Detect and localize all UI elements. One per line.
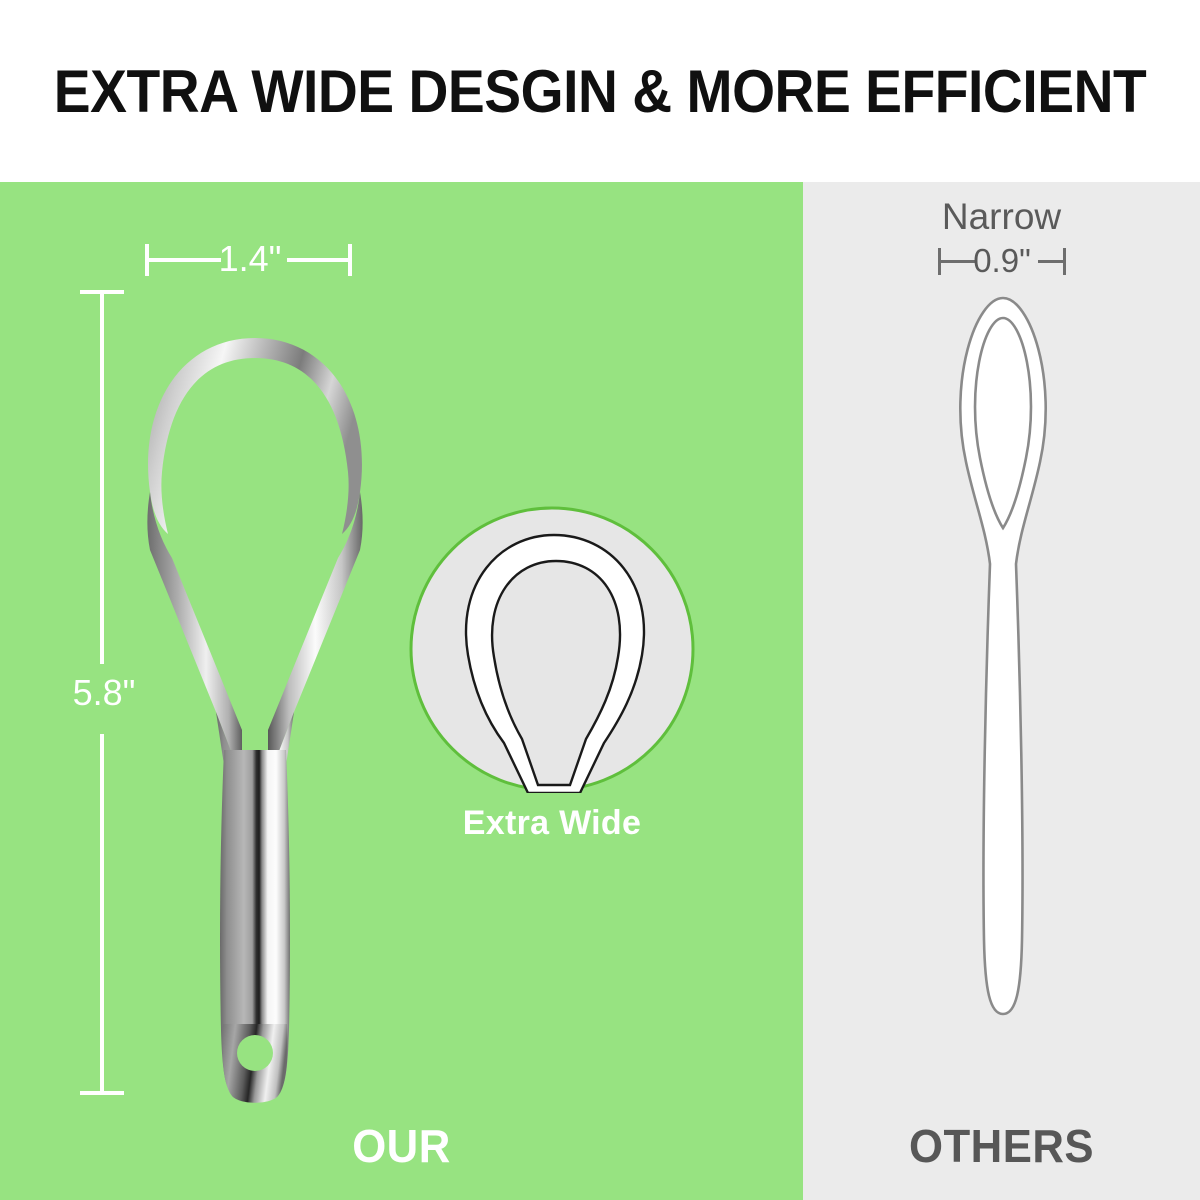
narrow-label: Narrow [803,194,1200,240]
others-width-dim-cap-right-icon [1063,248,1066,275]
callout-caption: Extra Wide [378,801,726,845]
scraper-arm-left [147,492,242,780]
panel-others: Narrow 0.9" OTHERS [803,182,1200,1200]
hang-hole-icon [237,1035,273,1071]
panel-footer-label-others: OTHERS [813,1120,1190,1172]
page-title: EXTRA WIDE DESGIN & MORE EFFICIENT [48,58,1152,126]
height-dim-rule-bottom-icon [100,734,104,1094]
our-scraper-illustration [120,282,390,1112]
product-comparison-image: EXTRA WIDE DESGIN & MORE EFFICIENT 1.4" … [0,0,1200,1200]
width-dim-cap-right-icon [348,244,352,276]
scraper-arm-right [268,492,363,780]
height-dim-rule-top-icon [100,292,104,664]
width-dim-rule-right-icon [287,258,350,262]
width-dimension-label-our: 1.4" [205,232,295,286]
panel-our: 1.4" 5.8" [0,182,803,1200]
others-scraper-illustration [908,272,1098,1072]
callout-circle-icon [408,505,696,793]
others-width-dim-rule-right-icon [1038,260,1066,263]
headline-bar: EXTRA WIDE DESGIN & MORE EFFICIENT [0,0,1200,182]
panel-footer-label-our: OUR [20,1120,783,1172]
extra-wide-callout: Extra Wide [408,505,696,793]
scraper-head-loop [148,338,362,534]
height-dim-cap-bottom-icon [80,1091,124,1095]
